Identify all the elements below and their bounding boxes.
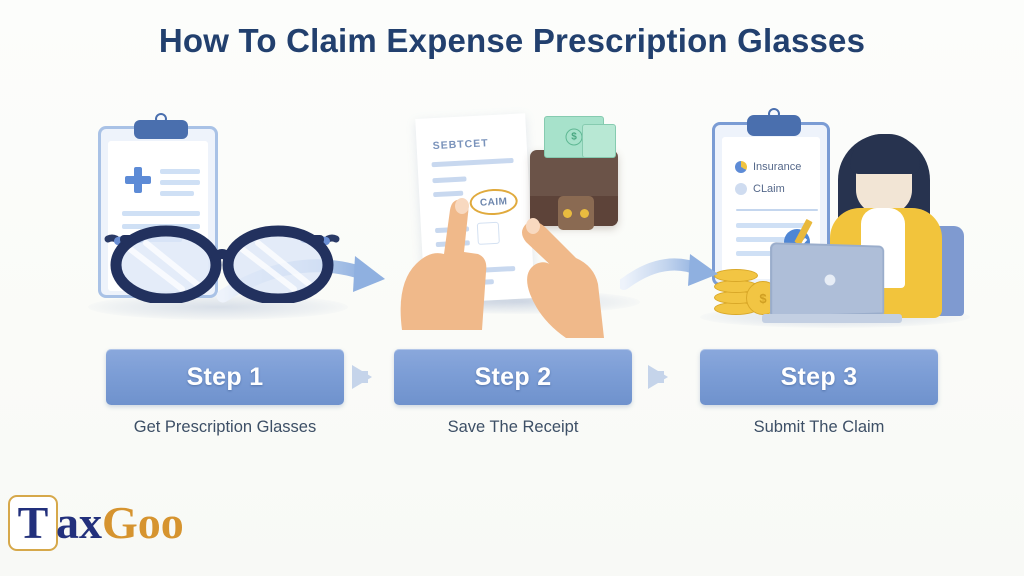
logo-box-letter: T	[8, 495, 58, 551]
laptop-icon	[770, 242, 884, 318]
dot-bullet-icon	[735, 183, 747, 195]
clipboard-divider	[736, 209, 818, 211]
doc-line	[122, 211, 200, 216]
illustration-panel-3: Insurance CLaim	[690, 108, 980, 348]
step-button-1[interactable]: Step 1	[106, 349, 344, 405]
banknote-icon	[582, 124, 616, 158]
coin	[714, 269, 758, 282]
clipboard-label-insurance: Insurance	[753, 161, 801, 173]
laptop-base	[762, 314, 902, 323]
captions-row: Get Prescription Glasses Save The Receip…	[0, 418, 1024, 446]
logo-text-gold: Goo	[102, 500, 184, 546]
hands-icon	[390, 180, 655, 340]
clipboard-row-claim: CLaim	[735, 183, 785, 195]
steps-row: Step 1 Step 2 Step 3	[0, 349, 1024, 405]
brand-logo[interactable]: T ax Goo	[8, 492, 184, 554]
illustration-panel-1	[70, 108, 370, 348]
clipboard-label-claim: CLaim	[753, 183, 785, 195]
receipt-header-text: SEBTCET	[432, 137, 489, 152]
step-button-2[interactable]: Step 2	[394, 349, 632, 405]
pie-bullet-icon	[735, 161, 747, 173]
receipt-line	[432, 158, 514, 167]
banknote-symbol: $	[566, 129, 583, 146]
doc-line	[160, 169, 200, 174]
logo-text-navy: ax	[56, 500, 102, 546]
illustration-panel-2: $ SEBTCET CAIM	[390, 108, 655, 348]
clipboard-clip	[747, 115, 801, 136]
doc-line	[160, 180, 200, 185]
doc-line	[160, 191, 194, 196]
step-button-3[interactable]: Step 3	[700, 349, 938, 405]
page-title: How To Claim Expense Prescription Glasse…	[0, 22, 1024, 60]
step-caption-1: Get Prescription Glasses	[106, 418, 344, 437]
clipboard-clip	[134, 120, 188, 139]
eyeglasses-icon	[102, 223, 342, 303]
clipboard-row-insurance: Insurance	[735, 161, 801, 173]
illustration-band: $ SEBTCET CAIM	[0, 108, 1024, 348]
infographic-page: How To Claim Expense Prescription Glasse…	[0, 0, 1024, 576]
medical-cross-icon	[125, 167, 151, 193]
doc-line	[736, 223, 808, 228]
step-caption-3: Submit The Claim	[700, 418, 938, 437]
step-connector-arrow-2-icon	[648, 365, 668, 389]
laptop-logo	[825, 274, 836, 285]
step-connector-arrow-1-icon	[352, 365, 372, 389]
step-caption-2: Save The Receipt	[394, 418, 632, 437]
